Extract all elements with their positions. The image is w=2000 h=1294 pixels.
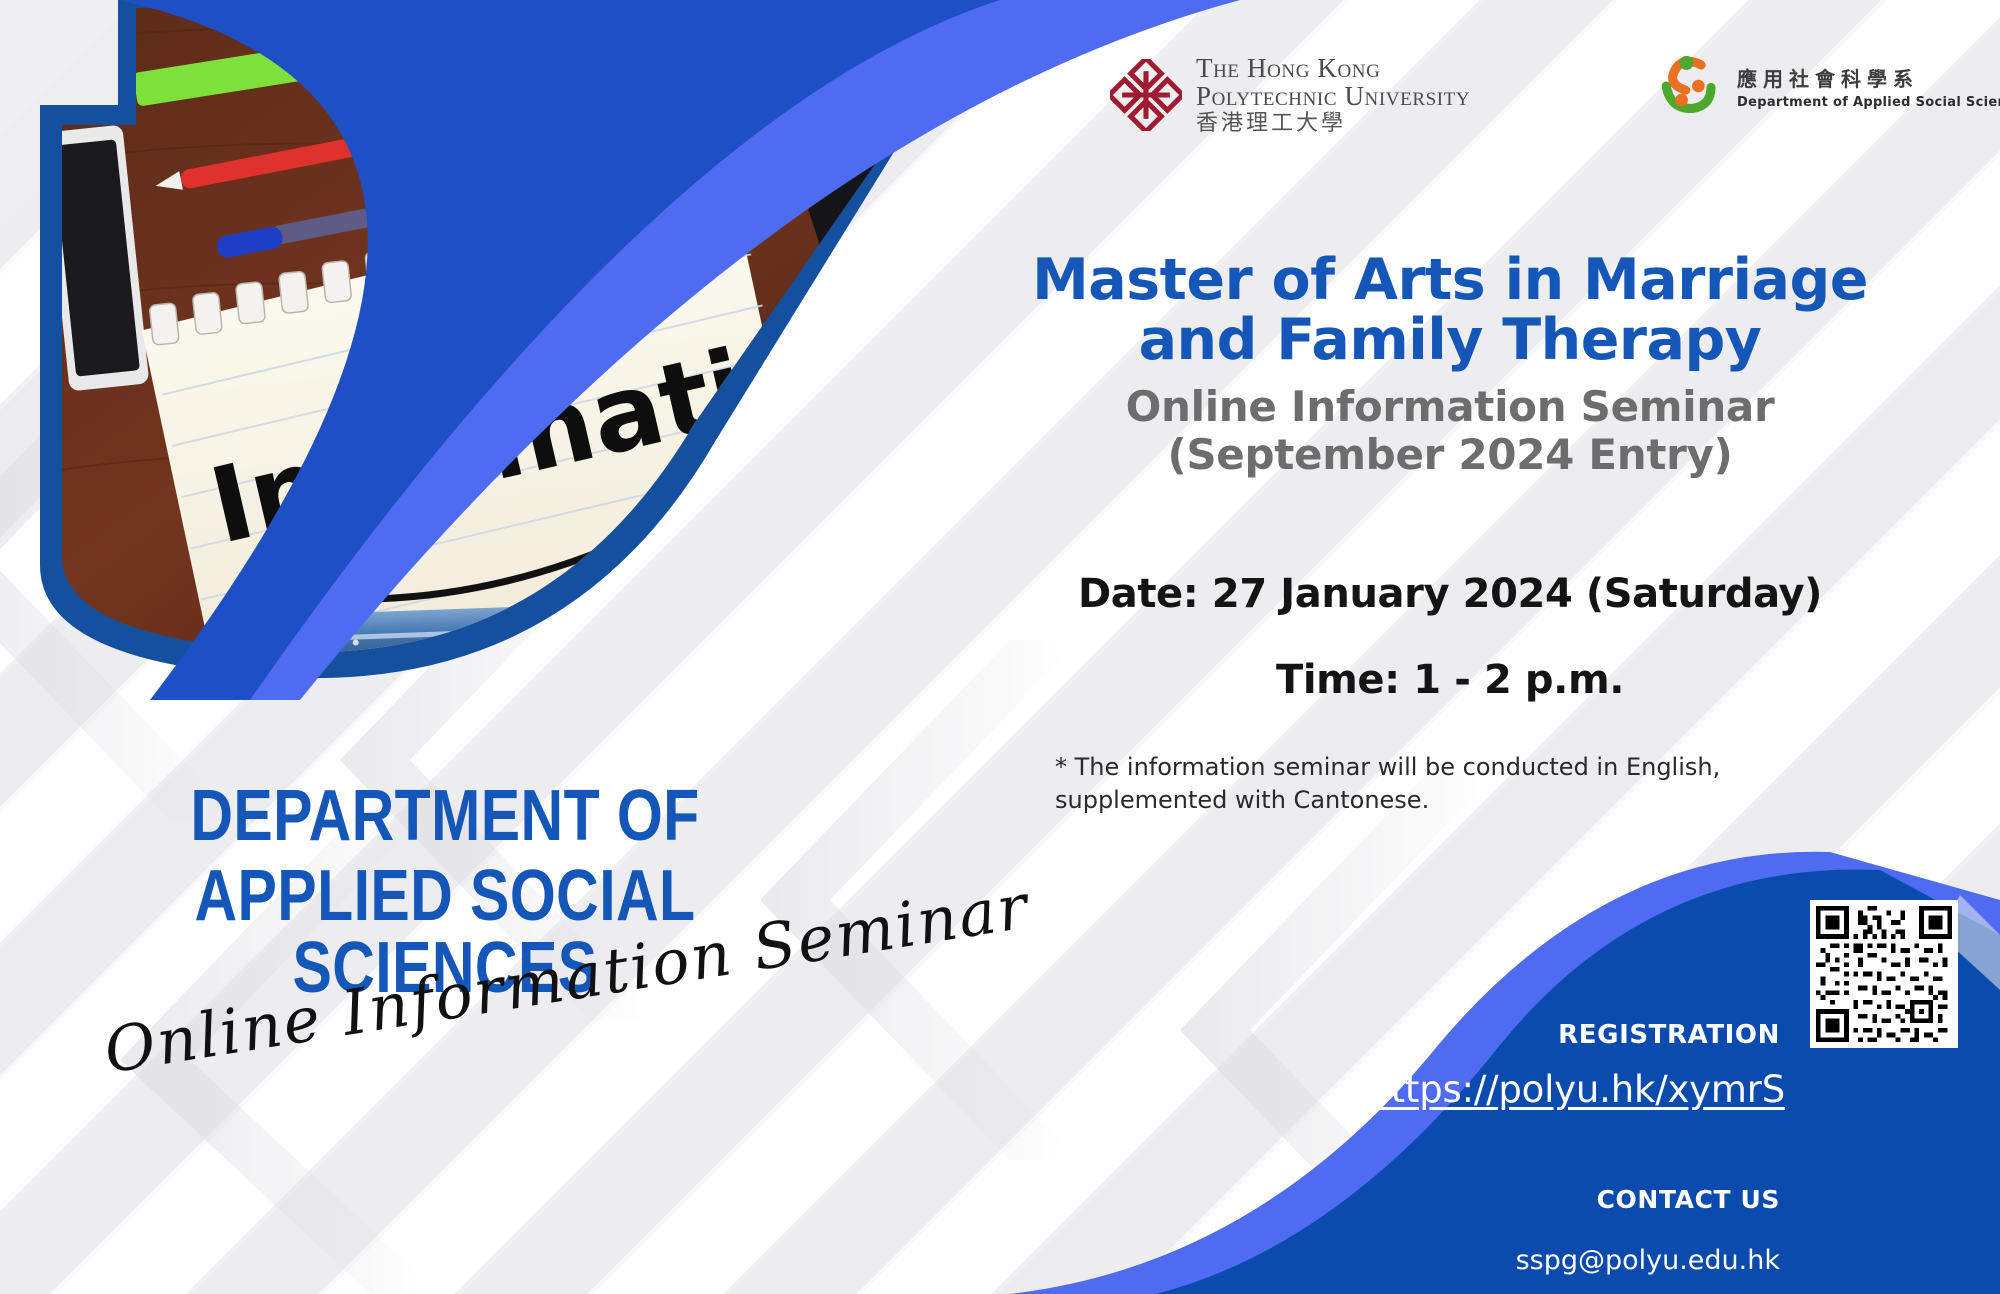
registration-label: REGISTRATION xyxy=(1380,1020,1780,1050)
desk-photo-content: Information xyxy=(0,0,960,700)
apss-emblem-icon xyxy=(1655,50,1725,122)
poster: Information xyxy=(0,0,2000,1294)
seminar-subtitle-line2: (September 2024 Entry) xyxy=(960,431,1940,479)
polyu-line1: The Hong Kong xyxy=(1196,55,1470,82)
polyu-emblem-icon xyxy=(1110,59,1182,131)
program-title: Master of Arts in Marriage and Family Th… xyxy=(1000,250,1900,371)
language-note: * The information seminar will be conduc… xyxy=(1055,751,1845,817)
seminar-time: Time: 1 - 2 p.m. xyxy=(960,657,1940,703)
department-line1: DEPARTMENT OF xyxy=(190,776,699,856)
apss-chinese: 應用社會科學系 xyxy=(1737,63,2000,92)
polyu-logo-text: The Hong Kong Polytechnic University 香港理… xyxy=(1196,55,1470,135)
polyu-chinese: 香港理工大學 xyxy=(1196,113,1470,135)
apss-logo-text: 應用社會科學系 Department of Applied Social Sci… xyxy=(1737,63,2000,110)
polyu-line2: Polytechnic University xyxy=(1196,83,1470,110)
apss-english: Department of Applied Social Sciences xyxy=(1737,95,2000,110)
contact-email[interactable]: sspg@polyu.edu.hk xyxy=(1380,1245,1780,1276)
contact-label: CONTACT US xyxy=(1380,1185,1780,1214)
seminar-date: Date: 27 January 2024 (Saturday) xyxy=(960,571,1940,617)
registration-link[interactable]: https://polyu.hk/xymrS xyxy=(1300,1068,1785,1111)
seminar-info-column: Master of Arts in Marriage and Family Th… xyxy=(960,250,1940,817)
registration-qr-code[interactable] xyxy=(1810,900,1958,1048)
polyu-logo: The Hong Kong Polytechnic University 香港理… xyxy=(1110,55,1470,135)
hero-photo: Information xyxy=(0,0,960,700)
seminar-subtitle-line1: Online Information Seminar xyxy=(960,383,1940,431)
apss-logo: 應用社會科學系 Department of Applied Social Sci… xyxy=(1655,50,2000,122)
